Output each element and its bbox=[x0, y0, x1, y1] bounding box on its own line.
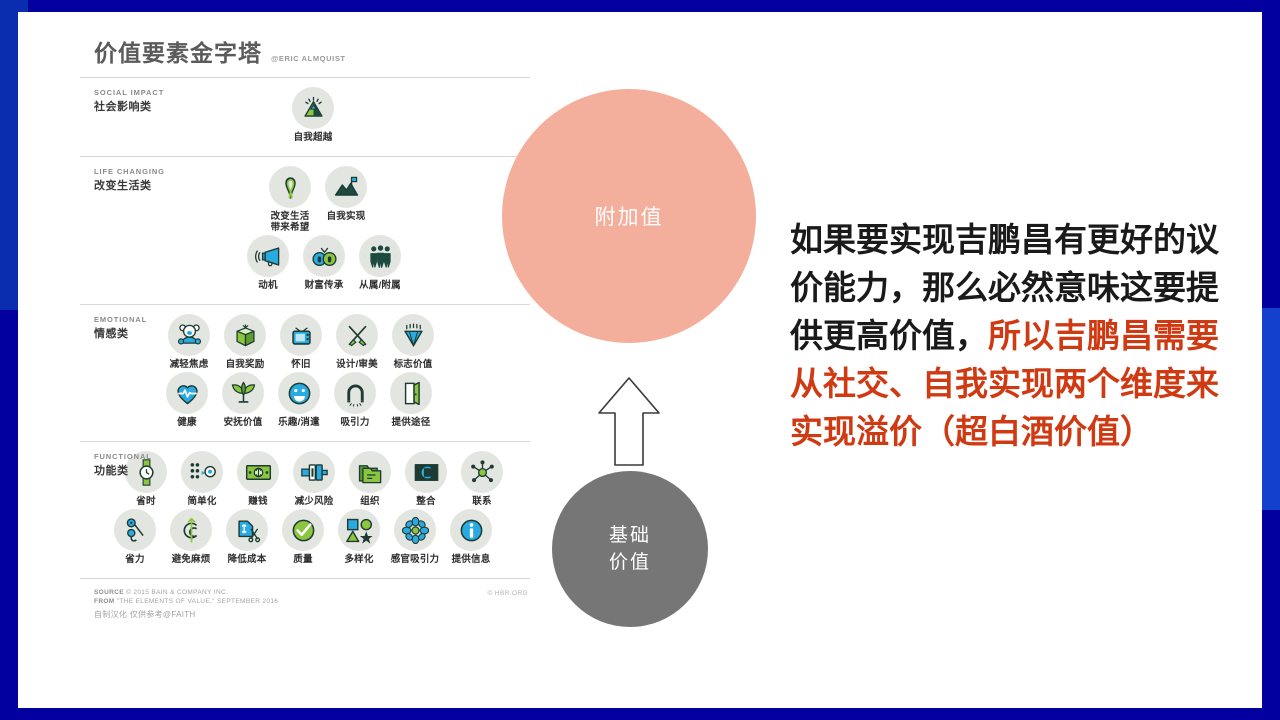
open-door-icon bbox=[390, 372, 432, 414]
value-element-caption: 从属/附属 bbox=[359, 280, 401, 291]
value-element-caption: 提供途径 bbox=[392, 417, 431, 428]
value-element-caption: 动机 bbox=[258, 280, 277, 291]
icon-row: 动机 财富传承 bbox=[118, 235, 530, 291]
value-element-caption: 吸引力 bbox=[340, 417, 369, 428]
base-value-circle[interactable]: 基础 价值 bbox=[552, 471, 708, 627]
translator-note: 自制汉化 仅供参考@FAITH bbox=[94, 609, 530, 620]
value-element-caption: 财富传承 bbox=[305, 280, 344, 291]
source-label: SOURCE bbox=[94, 589, 124, 596]
value-element-variety[interactable]: 多样化 bbox=[334, 509, 384, 565]
value-element-provides-access[interactable]: 提供途径 bbox=[386, 372, 436, 428]
magnet-icon bbox=[334, 372, 376, 414]
tier-label-emotional: EMOTIONAL 情感类 bbox=[94, 314, 204, 343]
value-element-reduces-cost[interactable]: 降低成本 bbox=[222, 509, 272, 565]
people-group-icon bbox=[359, 235, 401, 277]
value-element-caption: 自我奖励 bbox=[226, 359, 265, 370]
added-value-label: 附加值 bbox=[595, 201, 664, 231]
spiral-arrow-icon bbox=[170, 509, 212, 551]
tier-social-impact: SOCIAL IMPACT 社会影响类 自我超越 bbox=[80, 78, 530, 147]
price-tag-scissors-icon bbox=[226, 509, 268, 551]
summit-flag-icon bbox=[325, 166, 367, 208]
value-element-caption: 标志价值 bbox=[394, 359, 433, 370]
icon-row: 省力 避免麻烦 bbox=[76, 509, 530, 565]
from-line: FROM "THE ELEMENTS OF VALUE," SEPTEMBER … bbox=[94, 597, 530, 606]
value-element-therapeutic-value[interactable]: 安抚价值 bbox=[218, 372, 268, 428]
tier-label-en: FUNCTIONAL bbox=[94, 451, 204, 463]
value-element-caption: 多样化 bbox=[344, 554, 373, 565]
value-element-caption: 质量 bbox=[293, 554, 312, 565]
retro-tv-icon bbox=[280, 314, 322, 356]
check-circle-icon bbox=[282, 509, 324, 551]
author-credit: @ERIC ALMQUIST bbox=[271, 54, 346, 63]
value-element-affiliation[interactable]: 从属/附属 bbox=[355, 235, 405, 291]
source-line: SOURCE © 2015 BAIN & COMPANY INC. bbox=[94, 588, 530, 597]
value-element-caption: 乐趣/消遣 bbox=[278, 417, 320, 428]
value-element-caption: 降低成本 bbox=[228, 554, 267, 565]
pulley-icon bbox=[114, 509, 156, 551]
value-element-caption: 省力 bbox=[125, 554, 144, 565]
tier-label-functional: FUNCTIONAL 功能类 bbox=[94, 451, 204, 480]
value-element-motivation[interactable]: 动机 bbox=[243, 235, 293, 291]
tier-label-cn: 功能类 bbox=[94, 463, 204, 480]
value-element-caption: 减少风险 bbox=[295, 496, 334, 507]
value-element-avoids-hassles[interactable]: 避免麻烦 bbox=[166, 509, 216, 565]
tier-label-en: SOCIAL IMPACT bbox=[94, 87, 204, 99]
seatbelt-icon bbox=[293, 451, 335, 493]
divider bbox=[80, 578, 530, 579]
slide-canvas: 价值要素金字塔 @ERIC ALMQUIST SOCIAL IMPACT 社会影… bbox=[18, 12, 1262, 708]
value-element-quality[interactable]: 质量 bbox=[278, 509, 328, 565]
value-element-fun-entertainment[interactable]: 乐趣/消遣 bbox=[274, 372, 324, 428]
slide-background: 价值要素金字塔 @ERIC ALMQUIST SOCIAL IMPACT 社会影… bbox=[0, 0, 1280, 720]
value-element-caption: 省时 bbox=[136, 496, 155, 507]
base-value-label: 基础 价值 bbox=[609, 522, 651, 576]
network-node-icon bbox=[461, 451, 503, 493]
megaphone-icon bbox=[247, 235, 289, 277]
pyramid-header: 价值要素金字塔 @ERIC ALMQUIST bbox=[80, 34, 530, 68]
gift-box-icon bbox=[224, 314, 266, 356]
value-element-caption: 感官吸引力 bbox=[391, 554, 440, 565]
value-pyramid-graphic: 价值要素金字塔 @ERIC ALMQUIST SOCIAL IMPACT 社会影… bbox=[80, 34, 530, 684]
banknote-icon bbox=[237, 451, 279, 493]
tier-label-cn: 情感类 bbox=[94, 326, 204, 343]
value-element-design-aesthetics[interactable]: 设计/审美 bbox=[332, 314, 382, 370]
icon-row: 健康 安抚价值 bbox=[68, 372, 530, 428]
heart-pulse-icon bbox=[166, 372, 208, 414]
value-element-sensory-appeal[interactable]: 感官吸引力 bbox=[390, 509, 440, 565]
value-element-caption: 设计/审美 bbox=[336, 359, 378, 370]
folders-icon bbox=[349, 451, 391, 493]
pyramid-footer: SOURCE © 2015 BAIN & COMPANY INC. FROM "… bbox=[80, 588, 530, 620]
info-circle-icon bbox=[450, 509, 492, 551]
hbr-credit: © HBR.ORG bbox=[487, 590, 528, 597]
value-element-connects[interactable]: 联系 bbox=[457, 451, 507, 507]
value-element-badge-value[interactable]: 标志价值 bbox=[388, 314, 438, 370]
value-element-self-actualization[interactable]: 自我实现 bbox=[321, 166, 371, 233]
heirloom-icon bbox=[303, 235, 345, 277]
tier-functional: FUNCTIONAL 功能类 省时 bbox=[80, 442, 530, 569]
commentary-text: 如果要实现吉鹏昌有更好的议价能力，那么必然意味这要提供更高价值，所以吉鹏昌需要从… bbox=[790, 216, 1228, 456]
tier-label-social-impact: SOCIAL IMPACT 社会影响类 bbox=[94, 87, 204, 116]
value-element-caption: 健康 bbox=[177, 417, 196, 428]
tier-label-life-changing: LIFE CHANGING 改变生活类 bbox=[94, 166, 204, 195]
value-element-wellness[interactable]: 健康 bbox=[162, 372, 212, 428]
value-element-caption: 怀旧 bbox=[291, 359, 310, 370]
value-element-caption: 减轻焦虑 bbox=[170, 359, 209, 370]
pencil-brush-icon bbox=[336, 314, 378, 356]
ribbon-icon bbox=[269, 166, 311, 208]
value-element-integrates[interactable]: 整合 bbox=[401, 451, 451, 507]
gem-shine-icon bbox=[392, 314, 434, 356]
value-element-organizes[interactable]: 组织 bbox=[345, 451, 395, 507]
value-element-caption: 组织 bbox=[360, 496, 379, 507]
value-element-caption: 安抚价值 bbox=[224, 417, 263, 428]
added-value-circle[interactable]: 附加值 bbox=[502, 89, 756, 343]
value-element-hope[interactable]: 改变生活 带来希望 bbox=[265, 166, 315, 233]
from-label: FROM bbox=[94, 598, 115, 605]
value-element-caption: 整合 bbox=[416, 496, 435, 507]
value-element-caption: 避免麻烦 bbox=[172, 554, 211, 565]
leaf-plant-icon bbox=[222, 372, 264, 414]
value-element-reduces-effort[interactable]: 省力 bbox=[110, 509, 160, 565]
value-element-self-transcendence[interactable]: 自我超越 bbox=[288, 87, 338, 143]
page-title: 价值要素金字塔 bbox=[94, 34, 262, 68]
tier-label-en: LIFE CHANGING bbox=[94, 166, 204, 178]
tier-label-cn: 改变生活类 bbox=[94, 178, 204, 195]
integrate-c-icon bbox=[405, 451, 447, 493]
mountain-sun-icon bbox=[292, 87, 334, 129]
flower-icon bbox=[394, 509, 436, 551]
value-element-reduces-risk[interactable]: 减少风险 bbox=[289, 451, 339, 507]
value-element-caption: 自我超越 bbox=[294, 132, 333, 143]
tier-label-en: EMOTIONAL bbox=[94, 314, 204, 326]
value-element-nostalgia[interactable]: 怀旧 bbox=[276, 314, 326, 370]
value-element-informs[interactable]: 提供信息 bbox=[446, 509, 496, 565]
up-arrow-icon bbox=[596, 375, 662, 468]
value-element-makes-money[interactable]: 赚钱 bbox=[233, 451, 283, 507]
value-element-heirloom[interactable]: 财富传承 bbox=[299, 235, 349, 291]
value-element-caption: 改变生活 带来希望 bbox=[271, 211, 310, 233]
value-element-caption: 自我实现 bbox=[327, 211, 366, 222]
value-element-caption: 联系 bbox=[472, 496, 491, 507]
tier-label-cn: 社会影响类 bbox=[94, 99, 204, 116]
shapes-variety-icon bbox=[338, 509, 380, 551]
smiley-face-icon bbox=[278, 372, 320, 414]
tier-life-changing: LIFE CHANGING 改变生活类 改变生活 带来希望 bbox=[80, 157, 530, 295]
value-element-caption: 简单化 bbox=[187, 496, 216, 507]
value-element-attractiveness[interactable]: 吸引力 bbox=[330, 372, 380, 428]
source-text: © 2015 BAIN & COMPANY INC. bbox=[126, 589, 228, 596]
from-text: "THE ELEMENTS OF VALUE," SEPTEMBER 2016 bbox=[117, 598, 279, 605]
value-element-caption: 提供信息 bbox=[452, 554, 491, 565]
tier-emotional: EMOTIONAL 情感类 bbox=[80, 305, 530, 432]
value-element-rewards-me[interactable]: 自我奖励 bbox=[220, 314, 270, 370]
value-element-caption: 赚钱 bbox=[248, 496, 267, 507]
